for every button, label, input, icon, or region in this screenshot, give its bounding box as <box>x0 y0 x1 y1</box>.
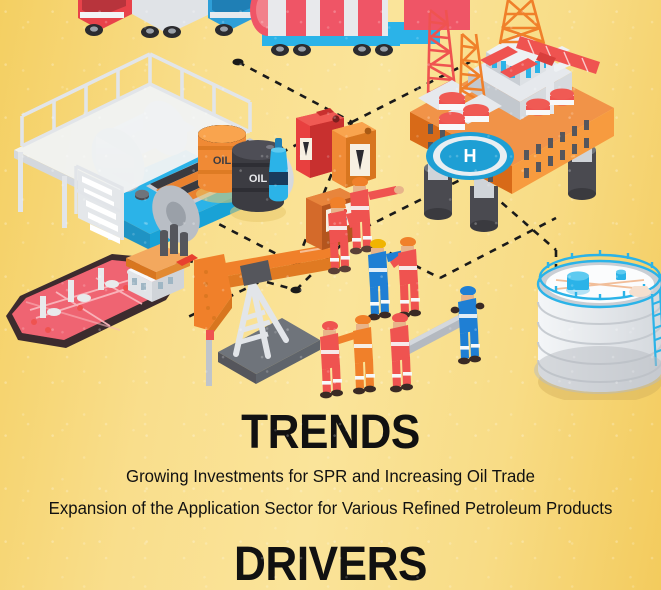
jerry-can-orange <box>332 122 376 188</box>
helipad: H <box>426 132 514 180</box>
worker-red-uniform <box>320 321 343 398</box>
trends-item-1: Growing Investments for SPR and Increasi… <box>13 468 648 486</box>
barrel-orange-label: OIL <box>213 155 232 167</box>
pumpjack <box>194 244 340 386</box>
trends-heading: TRENDS <box>26 409 634 457</box>
tanker-truck-red <box>78 0 210 38</box>
storage-tank-white <box>534 250 661 400</box>
illustration-scene: OIL OIL <box>0 0 661 400</box>
worker-red-uniform <box>390 313 413 392</box>
worker-red-uniform <box>390 237 421 318</box>
barrel-black-label: OIL <box>249 173 268 185</box>
helipad-label: H <box>464 146 477 166</box>
drivers-heading: DRIVERS <box>26 541 634 589</box>
infographic-poster: OIL OIL <box>0 0 661 590</box>
oil-tanker-ship <box>6 224 198 348</box>
tank-train-car <box>250 0 470 56</box>
trends-item-2: Expansion of the Application Sector for … <box>13 500 648 518</box>
offshore-oil-platform: H <box>410 0 614 232</box>
